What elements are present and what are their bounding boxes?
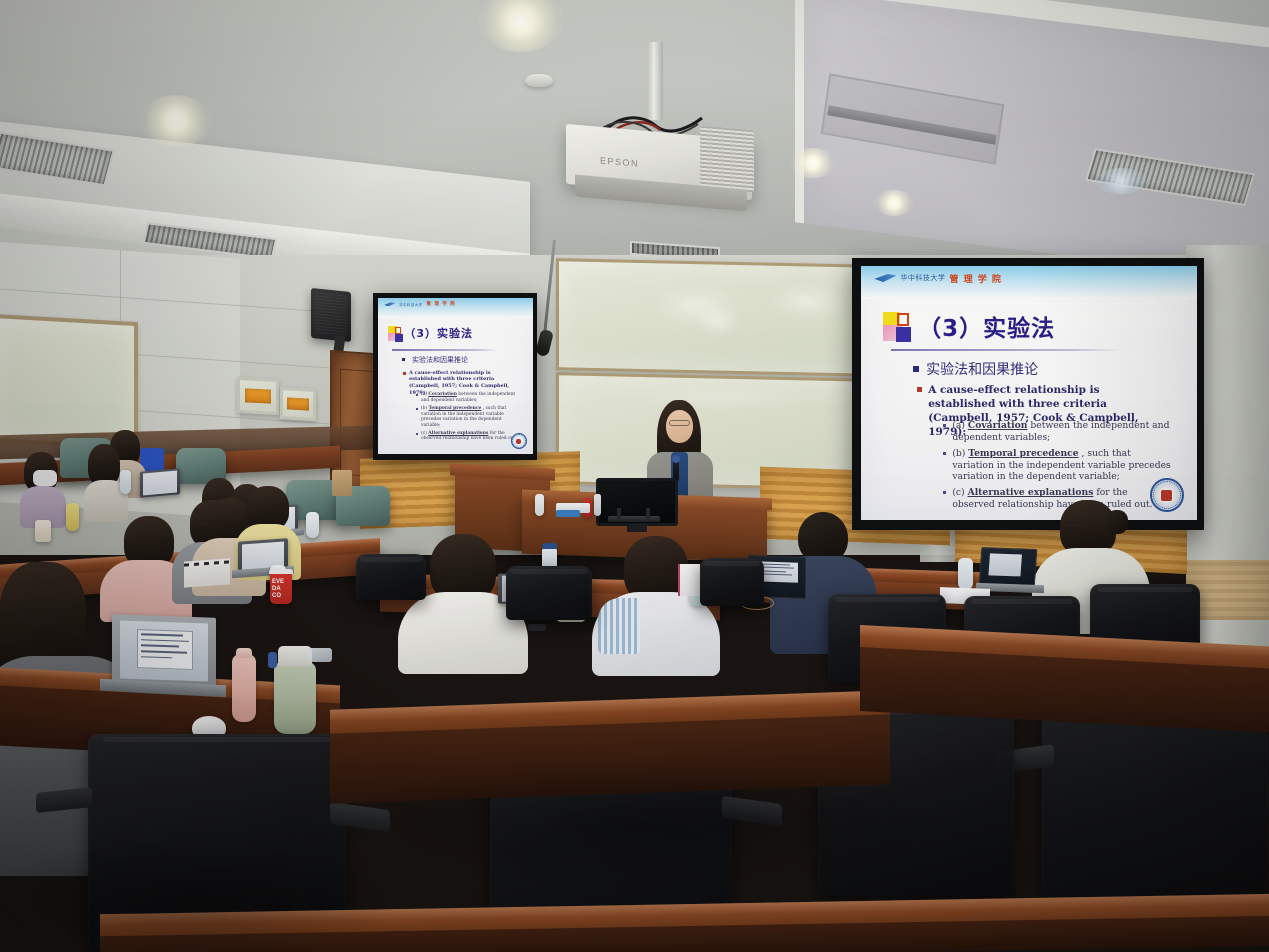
ceiling-downlight <box>140 95 212 147</box>
speaker-grille <box>315 292 347 335</box>
cup-text-line1: EVE <box>272 579 290 586</box>
slide-decoration <box>883 312 917 344</box>
bottle-handle <box>308 648 332 662</box>
presenter-face <box>666 410 693 443</box>
green-water-bottle <box>274 662 316 734</box>
blue-folder <box>556 510 580 517</box>
bottle-lid <box>278 646 312 666</box>
pink-thermos <box>232 654 256 722</box>
water-bottle <box>120 470 131 494</box>
red-paper-cup: EVE DA CO <box>270 572 292 604</box>
slide-content-duplicate: 华中科技大学 管 理 学 院 （3）实验法 实验法和因果推论 A cause-e… <box>378 298 533 454</box>
slide-title: （3）实验法 <box>918 309 1055 343</box>
list-item: (b) Temporal precedence , such that vari… <box>416 406 521 429</box>
university-logo-icon <box>384 302 395 306</box>
microphone-head <box>672 455 680 463</box>
bottle-strap <box>268 652 277 668</box>
laptop[interactable] <box>112 614 216 688</box>
striped-sleeve <box>598 598 640 654</box>
ceiling-downlight <box>790 148 836 178</box>
student <box>20 452 66 522</box>
slide-bullet-level1: 实验法和因果推论 <box>913 359 1038 379</box>
cup-text-line2: DA <box>272 586 290 593</box>
chair[interactable] <box>506 566 592 620</box>
main-projection-screen: 华中科技大学 管 理 学 院 （3）实验法 实验法和因果推论 A cause-e… <box>852 258 1204 530</box>
slide-logo: 华中科技大学 管 理 学 院 <box>874 272 1001 285</box>
mic-antenna <box>617 508 621 520</box>
ceiling-downlight <box>874 190 914 216</box>
glasses-icon <box>1062 518 1084 526</box>
list-item: (c) Alternative explanations for the obs… <box>416 431 521 442</box>
slide-sub-list: (a) Covariation between the independent … <box>416 392 521 444</box>
sanitizer-bottle <box>535 494 544 516</box>
list-item: (a) Covariation between the independent … <box>416 392 521 403</box>
slide-title: （3）实验法 <box>404 325 473 341</box>
university-logo-icon <box>874 274 896 282</box>
bottle-cap <box>542 543 557 549</box>
slide-title-rule <box>891 349 1119 351</box>
slide-logo-university: 华中科技大学 <box>399 302 422 307</box>
monitor-stand <box>627 524 647 532</box>
list-item: (a) Covariation between the independent … <box>943 420 1171 444</box>
chair[interactable] <box>356 554 426 600</box>
slide-bullet-level1: 实验法和因果推论 <box>402 355 468 365</box>
thermos <box>66 503 79 531</box>
slide-logo-school: 管 理 学 院 <box>427 301 456 307</box>
slide-decoration <box>388 326 405 342</box>
wall-notice-frame <box>237 377 279 415</box>
ceiling-downlight <box>1095 168 1147 194</box>
drink-cup <box>35 520 51 542</box>
presenter-glasses-icon <box>669 420 690 426</box>
wall-notice-frame <box>280 387 316 421</box>
ponytail <box>1106 510 1128 534</box>
slide-title-rule <box>392 349 497 351</box>
projector-vent-grille <box>700 126 754 193</box>
paper-handout <box>678 564 700 596</box>
slide-logo-university: 华中科技大学 <box>900 273 945 283</box>
slide-logo: 华中科技大学 管 理 学 院 <box>384 301 456 307</box>
classroom-scene: EPSON 华中科技大学 管 理 学 <box>0 0 1269 952</box>
floor-shadow <box>0 840 400 952</box>
paper-bag <box>332 470 352 496</box>
water-bottle <box>958 558 973 590</box>
slide-content: 华中科技大学 管 理 学 院 （3）实验法 实验法和因果推论 A cause-e… <box>861 266 1197 520</box>
university-seal-icon <box>1150 478 1184 512</box>
laptop[interactable] <box>140 468 180 497</box>
glasses-icon <box>18 608 64 624</box>
face-mask-icon <box>33 470 57 486</box>
cup-text-line3: CO <box>272 593 290 600</box>
mic-antenna <box>646 508 650 520</box>
phone[interactable] <box>528 624 546 631</box>
thermos-cap <box>236 648 252 658</box>
slide-logo-school: 管 理 学 院 <box>949 272 1001 285</box>
clear-bottle <box>594 494 601 516</box>
list-item: (b) Temporal precedence , such that vari… <box>943 448 1171 484</box>
projector-mount-pole <box>648 42 663 120</box>
mic-receiver <box>608 516 660 522</box>
chair[interactable] <box>700 558 764 606</box>
smoke-detector-icon <box>525 74 553 87</box>
water-bottle <box>306 512 319 538</box>
side-projection-screen: 华中科技大学 管 理 学 院 （3）实验法 实验法和因果推论 A cause-e… <box>373 293 537 460</box>
floor-shadow <box>330 760 950 890</box>
university-seal-icon <box>511 433 527 449</box>
